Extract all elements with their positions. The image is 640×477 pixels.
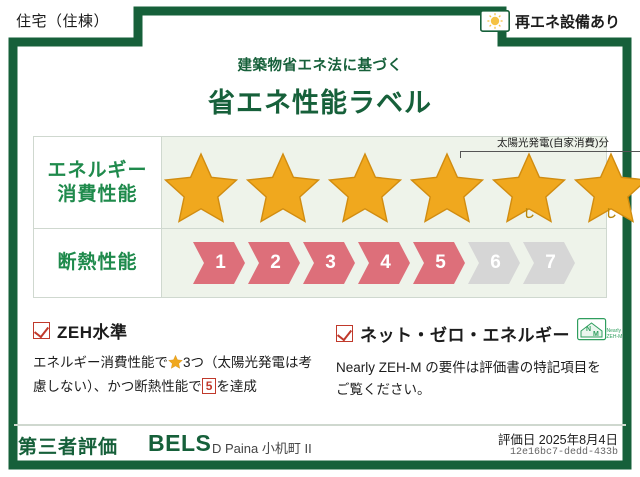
insulation-performance-row: 断熱性能 1 2 (33, 228, 607, 298)
energy-stars-cell: 太陽光発電(自家消費)分 (162, 137, 640, 228)
insulation-level-3-label: 3 (322, 252, 336, 274)
star-2 (244, 149, 322, 223)
footer-divider (14, 424, 626, 426)
energy-performance-row: エネルギー 消費性能 太陽光発電(自家消費)分 (33, 136, 607, 228)
star-6-letter: し (606, 205, 617, 221)
nearly-zeh-m-badge-svg: N M Nearly ZEH-M (577, 318, 623, 348)
insulation-level-2-label: 2 (267, 252, 281, 274)
renewable-energy-badge: 再エネ設備あり (480, 10, 620, 32)
checkbox-checked-icon (33, 322, 50, 339)
svg-text:M: M (593, 331, 599, 338)
net-zero-heading-row: ネット・ゼロ・エネルギー N M Nearly ZEH-M (336, 318, 607, 348)
star-5-letter: し (524, 205, 535, 221)
star-rating: し し (162, 149, 640, 223)
insulation-label: 断熱性能 (57, 251, 137, 275)
zeh-body-star-count: 3つ (183, 355, 204, 370)
zeh-standard-body: エネルギー消費性能で3つ（太陽光発電は考慮しない）、かつ断熱性能で5を達成 (33, 352, 320, 398)
star-icon (326, 149, 404, 223)
star-5: し (490, 149, 568, 223)
renewable-energy-label: 再エネ設備あり (515, 11, 620, 32)
zeh-body-text-2: （太陽光発電 (204, 355, 285, 370)
star-icon (162, 149, 240, 223)
zeh-body-text-1: エネルギー消費性能で (33, 355, 168, 370)
insulation-level-4-label: 4 (377, 252, 391, 274)
zeh-standard-heading: ZEH水準 (57, 318, 128, 343)
insulation-level-7-label: 7 (542, 252, 556, 274)
star-1 (162, 149, 240, 223)
star-icon (408, 149, 486, 223)
insulation-level-3: 3 (303, 242, 355, 284)
star-icon (244, 149, 322, 223)
title-subtitle: 建築物省エネ法に基づく (0, 54, 640, 75)
insulation-level-scale: 1 2 3 (193, 242, 575, 284)
ratings-panel: エネルギー 消費性能 太陽光発電(自家消費)分 (33, 136, 607, 298)
notes-columns: ZEH水準 エネルギー消費性能で3つ（太陽光発電は考慮しない）、かつ断熱性能で5… (33, 318, 607, 401)
net-zero-energy-column: ネット・ゼロ・エネルギー N M Nearly ZEH-M Nearly ZEH… (320, 318, 607, 401)
zeh-body-level-box: 5 (202, 378, 217, 394)
energy-label-line1: エネルギー (47, 159, 147, 183)
building-type-badge: 住宅（住棟） (16, 10, 109, 31)
insulation-level-5-label: 5 (432, 252, 446, 274)
energy-performance-label: 住宅（住棟） 再エネ設備あり 建築物省エネ法に基づく 省エネ性能ラベル (0, 0, 640, 477)
svg-text:N: N (586, 326, 591, 333)
insulation-level-1: 1 (193, 242, 245, 284)
insulation-level-1-label: 1 (212, 252, 226, 274)
insulation-level-6: 6 (468, 242, 520, 284)
checkbox-checked-icon (336, 325, 353, 342)
title-area: 建築物省エネ法に基づく 省エネ性能ラベル (0, 54, 640, 120)
energy-performance-label-cell: エネルギー 消費性能 (34, 137, 162, 228)
insulation-level-5: 5 (413, 242, 465, 284)
insulation-levels-cell: 1 2 3 (162, 229, 606, 297)
nearly-zeh-m-badge-icon: N M Nearly ZEH-M (577, 318, 623, 348)
insulation-level-7: 7 (523, 242, 575, 284)
evaluation-date: 評価日 2025年8月4日 (498, 429, 618, 448)
page-title: 省エネ性能ラベル (0, 81, 640, 120)
energy-label-line2: 消費性能 (57, 183, 137, 207)
project-name: D Paina 小机町 II (212, 438, 312, 457)
net-zero-heading: ネット・ゼロ・エネルギー (360, 321, 570, 346)
evaluation-id: 12e16bc7-dedd-433b (510, 447, 618, 458)
insulation-level-6-label: 6 (487, 252, 501, 274)
third-party-evaluation-label: 第三者評価 (18, 432, 118, 459)
sun-icon (480, 10, 510, 32)
star-3 (326, 149, 404, 223)
insulation-level-2: 2 (248, 242, 300, 284)
inline-star-icon (168, 354, 183, 376)
svg-text:ZEH-M: ZEH-M (607, 334, 623, 340)
zeh-standard-column: ZEH水準 エネルギー消費性能で3つ（太陽光発電は考慮しない）、かつ断熱性能で5… (33, 318, 320, 401)
zeh-standard-heading-row: ZEH水準 (33, 318, 320, 343)
star-6: し (572, 149, 640, 223)
footer: 第三者評価 BELS D Paina 小机町 II 評価日 2025年8月4日 … (0, 428, 640, 468)
zeh-body-text-4: を達成 (216, 379, 257, 394)
insulation-level-4: 4 (358, 242, 410, 284)
net-zero-body: Nearly ZEH-M の要件は評価書の特記項目をご覧ください。 (336, 357, 607, 401)
bels-logo: BELS (148, 430, 211, 457)
star-4 (408, 149, 486, 223)
insulation-performance-label-cell: 断熱性能 (34, 229, 162, 297)
